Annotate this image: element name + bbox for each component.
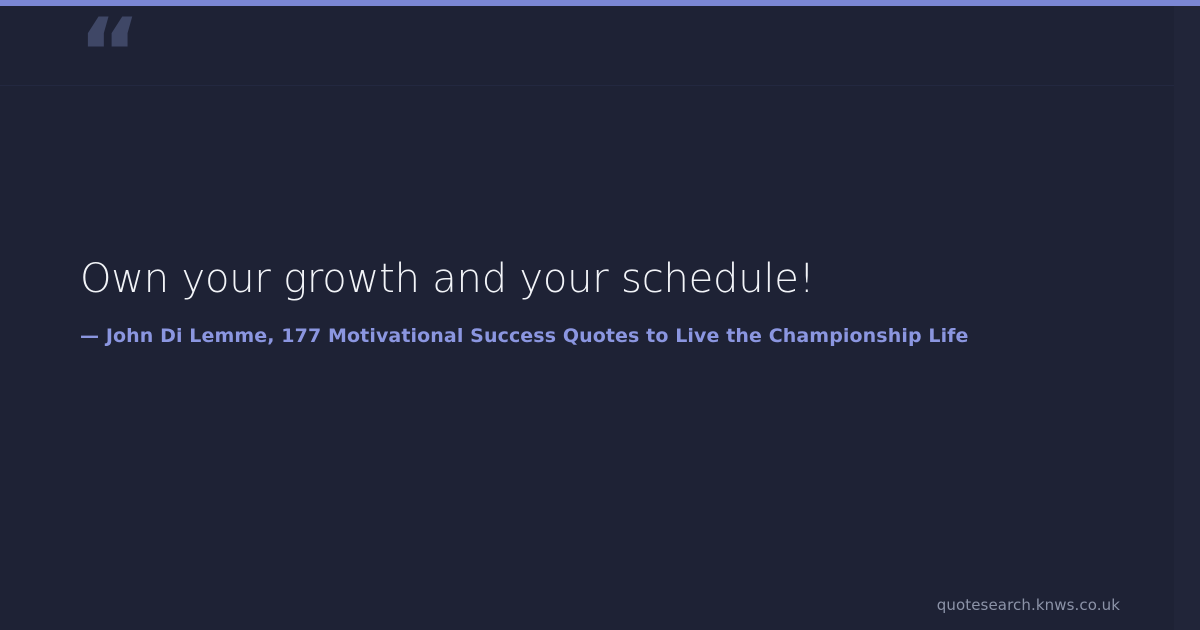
- header-divider: [0, 85, 1200, 86]
- quote-card: “ Own your growth and your schedule! — J…: [0, 0, 1200, 630]
- top-accent-bar: [0, 0, 1200, 6]
- quote-block: Own your growth and your schedule! — Joh…: [80, 255, 1200, 348]
- quote-text: Own your growth and your schedule!: [80, 255, 1200, 304]
- source-site-url: quotesearch.knws.co.uk: [937, 596, 1120, 614]
- open-quotation-mark-icon: “: [78, 6, 139, 102]
- quote-attribution: — John Di Lemme, 177 Motivational Succes…: [80, 304, 1200, 349]
